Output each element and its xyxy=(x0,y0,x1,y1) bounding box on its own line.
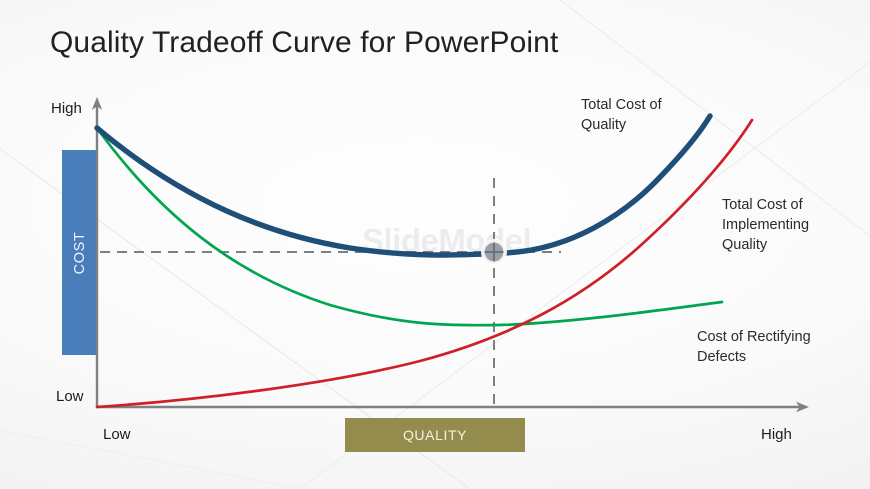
curve-cost-of-rectifying-defects xyxy=(97,128,722,325)
tradeoff-chart xyxy=(0,0,870,489)
slide-canvas: Quality Tradeoff Curve for PowerPoint Sl… xyxy=(0,0,870,489)
guide-lines xyxy=(100,178,561,412)
optimum-point-marker[interactable] xyxy=(481,239,507,265)
curve-total-cost-of-quality xyxy=(97,116,710,255)
curve-total-cost-of-implementing-quality xyxy=(97,120,752,407)
series-curves xyxy=(97,116,752,407)
